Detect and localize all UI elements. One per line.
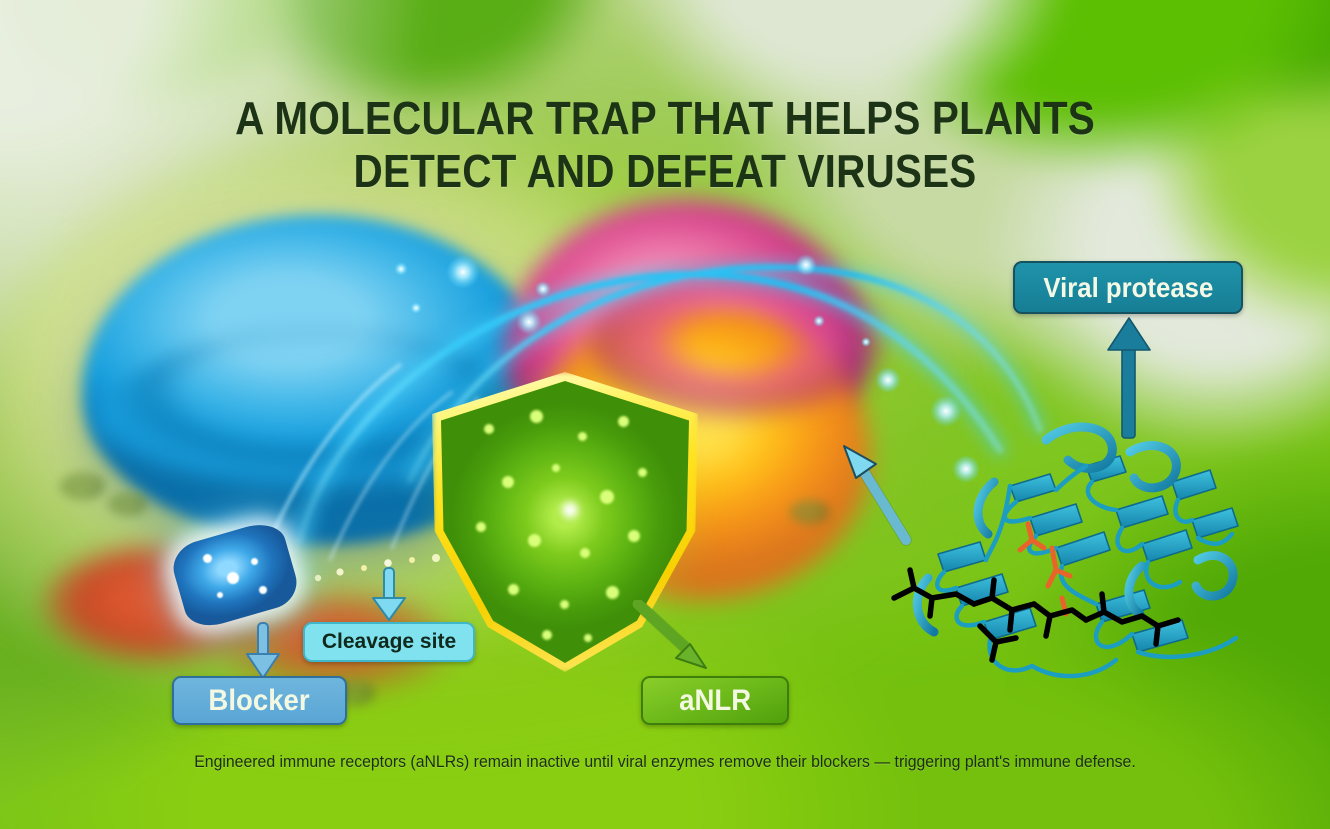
shield-speck (578, 432, 587, 441)
sparkle-dot (227, 572, 239, 584)
label-viral-protease[interactable]: Viral protease (1013, 261, 1243, 314)
arrow-anlr-diagonal-icon (632, 600, 718, 676)
sparkle-dot (217, 592, 223, 598)
shield-speck (502, 476, 514, 488)
shield-speck (530, 410, 543, 423)
arrow-viral-protease-up-icon (1098, 316, 1160, 440)
shield-speck (476, 522, 486, 532)
arrow-blocker-down-icon (240, 620, 286, 682)
arrow-protease-diagonal-icon (836, 440, 914, 546)
label-viral-protease-text: Viral protease (1043, 272, 1213, 304)
protein-ribbon-icon (880, 398, 1250, 703)
page-title: A MOLECULAR TRAP THAT HELPS PLANTS DETEC… (80, 92, 1250, 198)
shield-speck (508, 584, 519, 595)
sparkle-dot (259, 586, 267, 594)
shield-core-glow (562, 502, 578, 518)
blocker-blob-icon (165, 520, 305, 630)
shield-speck (600, 490, 614, 504)
page-caption: Engineered immune receptors (aNLRs) rema… (47, 752, 1284, 772)
label-cleavage-site-text: Cleavage site (322, 630, 456, 654)
label-blocker[interactable]: Blocker (172, 676, 347, 725)
label-anlr-text: aNLR (679, 684, 751, 718)
sparkle-dot (251, 558, 258, 565)
arrow-cleavage-down-icon (367, 566, 411, 624)
shield-speck (542, 630, 552, 640)
label-anlr[interactable]: aNLR (641, 676, 789, 725)
shield-speck (560, 600, 569, 609)
shield-speck (584, 634, 592, 642)
shield-speck (628, 530, 640, 542)
shield-speck (484, 424, 494, 434)
shield-speck (552, 464, 560, 472)
shield-speck (618, 416, 629, 427)
shield-speck (606, 586, 619, 599)
shield-speck (638, 468, 647, 477)
shield-speck (528, 534, 541, 547)
label-blocker-text: Blocker (209, 684, 310, 718)
label-cleavage-site[interactable]: Cleavage site (303, 622, 475, 662)
infographic-poster: A MOLECULAR TRAP THAT HELPS PLANTS DETEC… (0, 0, 1330, 829)
shield-speck (580, 548, 590, 558)
sparkle-dot (203, 554, 212, 563)
